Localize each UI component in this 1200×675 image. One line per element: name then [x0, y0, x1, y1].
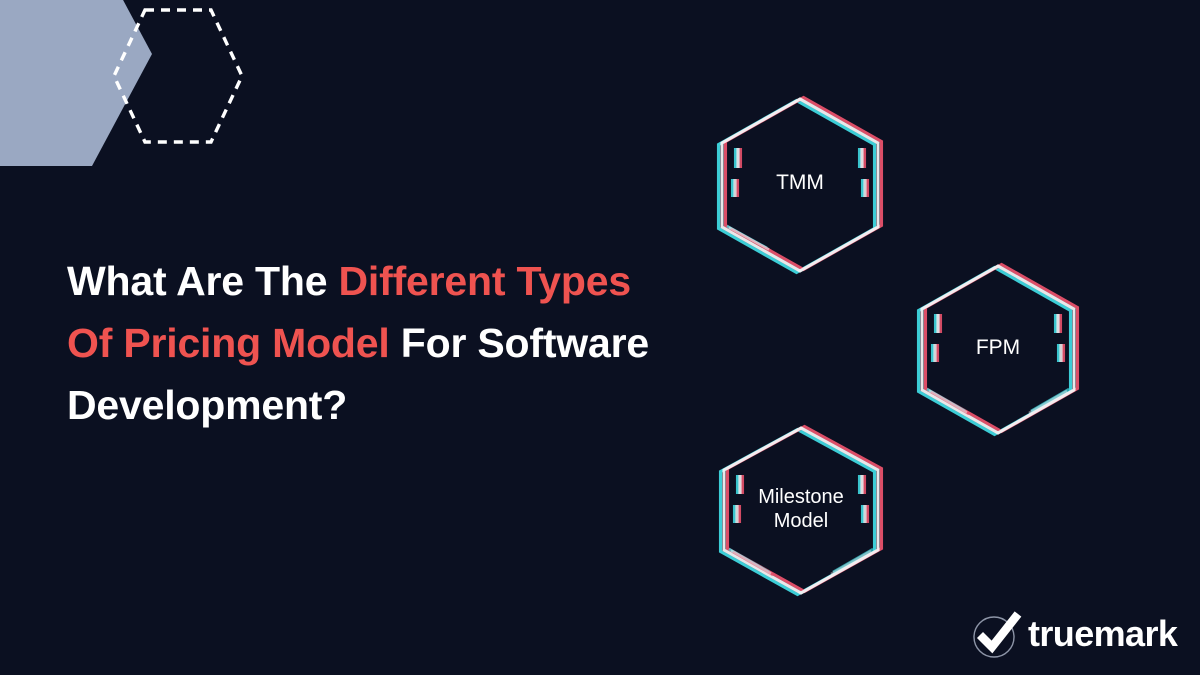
headline-part-1: What Are The — [67, 258, 339, 304]
page-title: What Are The Different Types Of Pricing … — [67, 250, 687, 436]
hexagon-card-milestone[interactable]: Milestone Model — [713, 424, 889, 594]
headline-part-3: Development? — [67, 382, 347, 428]
decorative-dashed-hexagon — [112, 8, 244, 144]
headline-highlight-2: Pricing Model — [123, 320, 389, 366]
check-circle-icon — [968, 608, 1022, 662]
hexagon-card-tmm[interactable]: TMM — [711, 94, 889, 272]
hexagon-card-fpm[interactable]: FPM — [911, 262, 1085, 434]
brand-logo[interactable]: truemark — [968, 608, 1177, 662]
slide-canvas: What Are The Different Types Of Pricing … — [0, 0, 1200, 675]
headline-part-2: For Software — [390, 320, 649, 366]
brand-name: truemark — [1028, 616, 1177, 655]
